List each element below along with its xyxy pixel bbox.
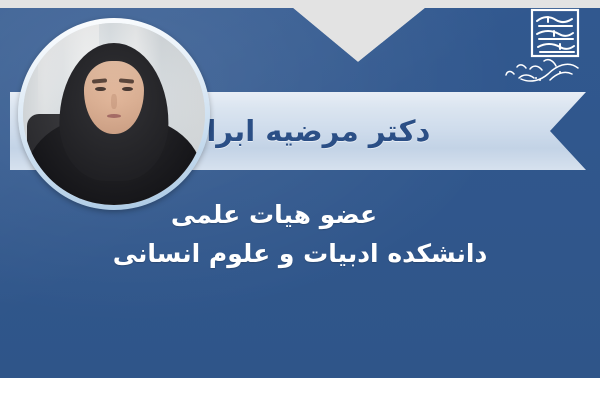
photo-vignette	[23, 23, 205, 205]
faculty-profile-card: دکتر مرضیه ابراهیمی عضو هیات علمی دانشکد…	[0, 0, 600, 400]
portrait-frame	[18, 18, 210, 210]
subtitle-block: عضو هیات علمی دانشکده ادبیات و علوم انسا…	[0, 196, 600, 274]
portrait-photo	[23, 23, 205, 205]
university-logo	[490, 8, 586, 90]
subtitle-position: عضو هیات علمی	[0, 196, 548, 234]
subtitle-faculty: دانشکده ادبیات و علوم انسانی	[0, 234, 600, 274]
